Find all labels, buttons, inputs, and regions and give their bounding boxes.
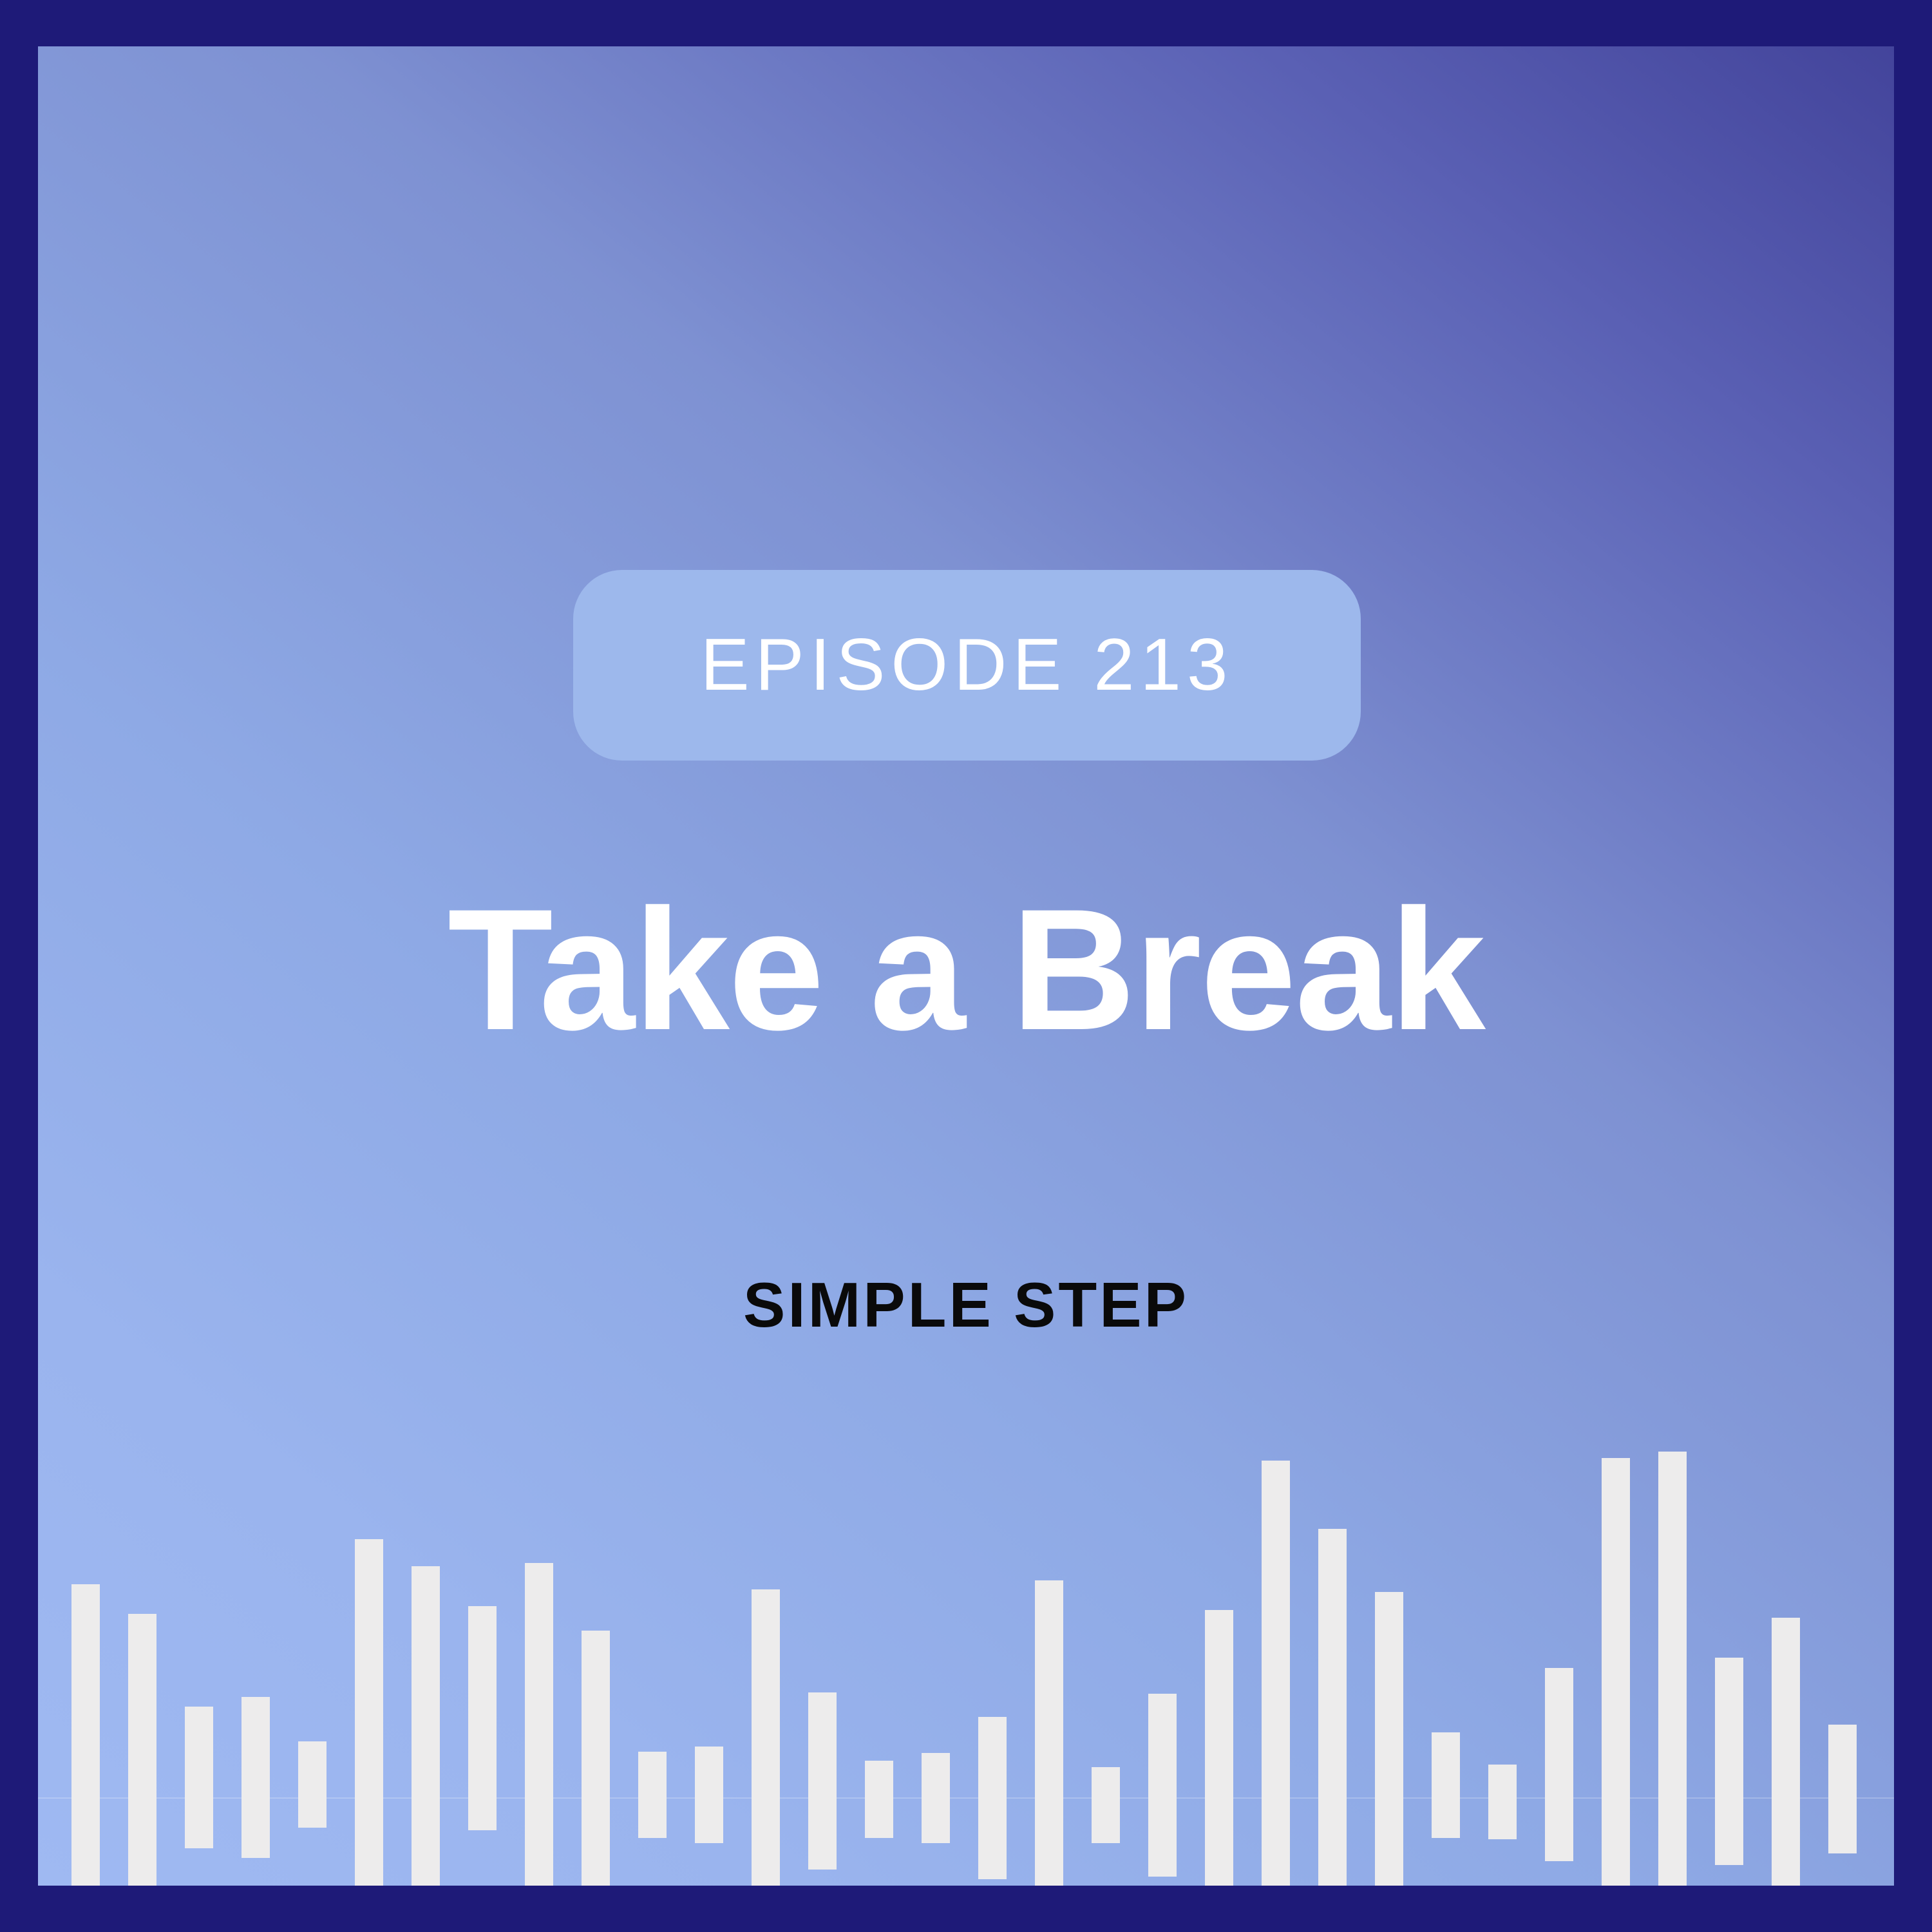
- episode-title: Take a Break: [38, 867, 1894, 1071]
- episode-subtitle: SIMPLE STEP: [38, 1273, 1894, 1336]
- content-stack: EPISODE 213 Take a Break SIMPLE STEP: [38, 46, 1894, 1886]
- episode-badge: EPISODE 213: [573, 570, 1361, 761]
- episode-badge-label: EPISODE 213: [701, 629, 1234, 702]
- gradient-panel: EPISODE 213 Take a Break SIMPLE STEP: [38, 46, 1894, 1886]
- podcast-episode-cover: EPISODE 213 Take a Break SIMPLE STEP: [0, 0, 1932, 1932]
